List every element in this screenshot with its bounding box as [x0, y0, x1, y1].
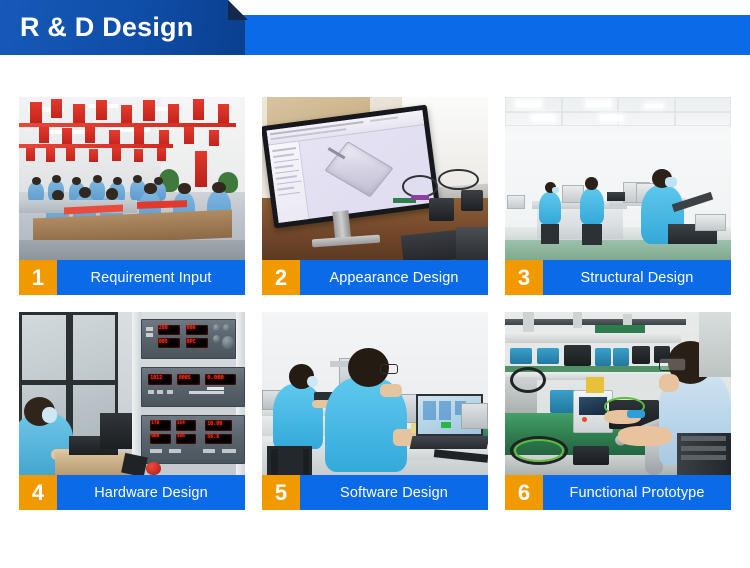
requirement-input-photo	[19, 97, 245, 260]
card-number-badge: 4	[19, 475, 57, 510]
functional-prototype-photo	[505, 312, 731, 475]
card-caption: 5 Software Design	[262, 475, 488, 510]
process-card-grid: 1 Requirement Input	[19, 97, 731, 510]
card-number-badge: 6	[505, 475, 543, 510]
process-card[interactable]: 1 Requirement Input	[19, 97, 245, 295]
process-card[interactable]: 2 Appearance Design	[262, 97, 488, 295]
process-card[interactable]: 3 Structural Design	[505, 97, 731, 295]
card-number-badge: 3	[505, 260, 543, 295]
card-label: Software Design	[300, 475, 488, 510]
card-caption: 2 Appearance Design	[262, 260, 488, 295]
appearance-design-photo	[262, 97, 488, 260]
card-number-badge: 5	[262, 475, 300, 510]
process-card[interactable]: 288 006 005 0PC 1012 0005 0.000	[19, 312, 245, 510]
hardware-design-photo: 288 006 005 0PC 1012 0005 0.000	[19, 312, 245, 475]
card-label: Hardware Design	[57, 475, 245, 510]
card-caption: 1 Requirement Input	[19, 260, 245, 295]
card-caption: 3 Structural Design	[505, 260, 731, 295]
page-title: R & D Design	[20, 0, 193, 55]
card-label: Appearance Design	[300, 260, 488, 295]
card-caption: 4 Hardware Design	[19, 475, 245, 510]
card-label: Functional Prototype	[543, 475, 731, 510]
header-corner-notch-icon	[228, 0, 248, 20]
process-card[interactable]: 6 Functional Prototype	[505, 312, 731, 510]
structural-design-photo	[505, 97, 731, 260]
software-design-photo	[262, 312, 488, 475]
card-number-badge: 1	[19, 260, 57, 295]
process-card[interactable]: 5 Software Design	[262, 312, 488, 510]
card-label: Requirement Input	[57, 260, 245, 295]
card-caption: 6 Functional Prototype	[505, 475, 731, 510]
page-header: R & D Design	[0, 0, 750, 60]
card-number-badge: 2	[262, 260, 300, 295]
card-label: Structural Design	[543, 260, 731, 295]
